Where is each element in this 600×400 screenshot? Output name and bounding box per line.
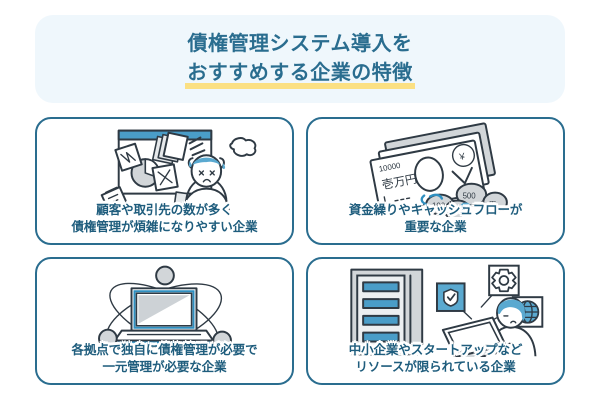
card-caption-line-2: 一元管理が必要な企業 — [37, 359, 292, 376]
card-caption-line-1: 中小企業やスタートアップなど — [308, 342, 563, 359]
card-caption: 中小企業やスタートアップなど リソースが限られている企業 — [308, 342, 563, 377]
feature-card-grid: 顧客や取引先の数が多く 債権管理が煩雑になりやすい企業 10000 — [35, 117, 565, 385]
card-many-customers[interactable]: 顧客や取引先の数が多く 債権管理が煩雑になりやすい企業 — [35, 117, 294, 245]
card-multi-site[interactable]: 各拠点で独自に債権管理が必要で 一元管理が必要な企業 — [35, 257, 294, 385]
card-sme-startup[interactable]: 中小企業やスタートアップなど リソースが限られている企業 — [306, 257, 565, 385]
slide-root: 債権管理システム導入を おすすめする企業の特徴 — [0, 0, 600, 400]
page-title-line-2-highlighted: おすすめする企業の特徴 — [185, 59, 415, 89]
card-caption: 各拠点で独自に債権管理が必要で 一元管理が必要な企業 — [37, 342, 292, 377]
card-caption-line-2: 重要な企業 — [308, 219, 563, 236]
card-caption-line-2: 債権管理が煩雑になりやすい企業 — [37, 219, 292, 236]
card-caption-line-1: 各拠点で独自に債権管理が必要で — [37, 342, 292, 359]
card-caption-line-1: 資金繰りやキャッシュフローが — [308, 202, 563, 219]
card-cashflow[interactable]: 10000 壱万円 ￥ 500 100 — [306, 117, 565, 245]
svg-text:￥: ￥ — [457, 151, 468, 163]
page-title-line-1: 債権管理システム導入を — [185, 30, 415, 59]
card-caption-line-1: 顧客や取引先の数が多く — [37, 202, 292, 219]
header-banner: 債権管理システム導入を おすすめする企業の特徴 — [35, 15, 565, 103]
svg-text:500: 500 — [463, 192, 477, 201]
card-caption: 資金繰りやキャッシュフローが 重要な企業 — [308, 202, 563, 237]
card-caption: 顧客や取引先の数が多く 債権管理が煩雑になりやすい企業 — [37, 202, 292, 237]
card-caption-line-2: リソースが限られている企業 — [308, 359, 563, 376]
page-title: 債権管理システム導入を おすすめする企業の特徴 — [185, 30, 415, 89]
